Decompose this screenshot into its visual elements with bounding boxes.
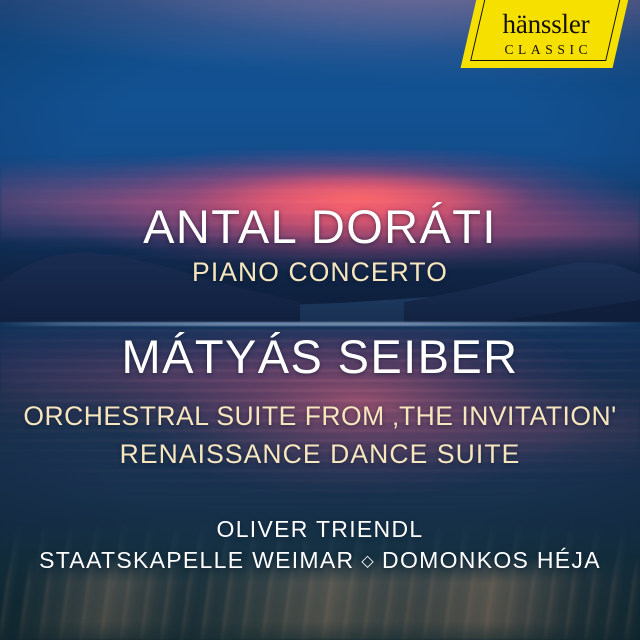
- work-title-piano-concerto: PIANO CONCERTO: [0, 259, 640, 286]
- ensemble-conductor-credit: STAATSKAPELLE WEIMAR◇DOMONKOS HÉJA: [0, 549, 640, 572]
- work-title-renaissance-dance-suite: RENAISSANCE DANCE SUITE: [0, 441, 640, 468]
- work-title-orchestral-suite: ORCHESTRAL SUITE FROM ‚THE INVITATION': [0, 403, 640, 430]
- conductor-name: DOMONKOS HÉJA: [382, 547, 601, 573]
- ensemble-name: STAATSKAPELLE WEIMAR: [39, 547, 354, 573]
- composer-name-primary: ANTAL DORÁTI: [0, 203, 640, 250]
- album-cover: hänssler CLASSIC ANTAL DORÁTI PIANO CONC…: [0, 0, 640, 640]
- soloist-credit: OLIVER TRIENDL: [0, 518, 640, 541]
- diamond-separator-icon: ◇: [361, 554, 375, 570]
- cover-text-block: ANTAL DORÁTI PIANO CONCERTO MÁTYÁS SEIBE…: [0, 0, 640, 640]
- composer-name-secondary: MÁTYÁS SEIBER: [0, 333, 640, 380]
